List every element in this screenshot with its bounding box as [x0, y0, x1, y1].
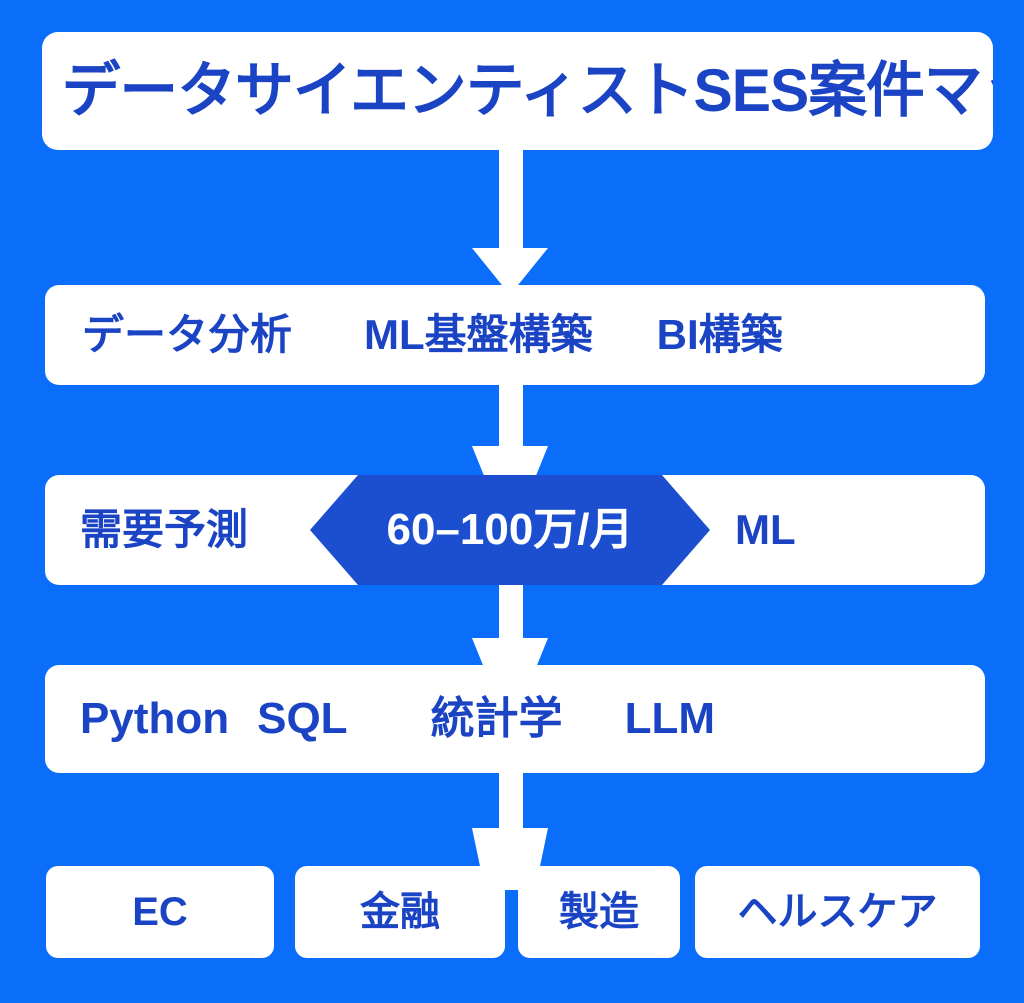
- industry-card-healthcare: ヘルスケア: [695, 866, 980, 958]
- industry-label: ヘルスケア: [738, 892, 938, 932]
- arrow-title-to-phases-icon: [455, 140, 565, 295]
- skill-item-statistics: 統計学: [431, 697, 563, 741]
- arrow-phases-to-rate-icon: [455, 378, 565, 488]
- title-card: データサイエンティストSES案件マップ: [42, 32, 993, 150]
- rate-left-label: 需要予測: [80, 509, 248, 551]
- phase-item-bi-build: BI構築: [657, 314, 783, 356]
- rate-row: 需要予測 60–100万/月 ML: [45, 475, 985, 585]
- skill-item-llm: LLM: [625, 697, 715, 741]
- phase-item-ml-platform: ML基盤構築: [364, 314, 593, 356]
- skill-item-sql: SQL: [257, 697, 347, 741]
- industry-card-ec: EC: [46, 866, 274, 958]
- rate-right-label: ML: [735, 509, 796, 551]
- rate-card: 需要予測 60–100万/月 ML: [45, 475, 985, 585]
- industry-card-finance: 金融: [295, 866, 505, 958]
- skills-list: Python SQL 統計学 LLM: [45, 697, 985, 741]
- arrow-rate-to-skills-icon: [455, 570, 565, 680]
- skills-card: Python SQL 統計学 LLM: [45, 665, 985, 773]
- phases-card: データ分析 ML基盤構築 BI構築: [45, 285, 985, 385]
- phases-list: データ分析 ML基盤構築 BI構築: [45, 314, 985, 356]
- industry-label: 金融: [360, 892, 440, 932]
- rate-highlight-badge: 60–100万/月: [310, 475, 710, 585]
- industry-card-manufacturing: 製造: [518, 866, 680, 958]
- phase-item-data-analysis: データ分析: [82, 314, 292, 356]
- page-title: データサイエンティストSES案件マップ: [42, 61, 993, 121]
- industry-label: EC: [132, 892, 188, 932]
- skill-item-python: Python: [80, 697, 229, 741]
- diagram-canvas: データサイエンティストSES案件マップ データ分析 ML基盤構築 BI構築 需要…: [0, 0, 1024, 1003]
- industry-label: 製造: [559, 892, 639, 932]
- rate-highlight-label: 60–100万/月: [386, 508, 633, 552]
